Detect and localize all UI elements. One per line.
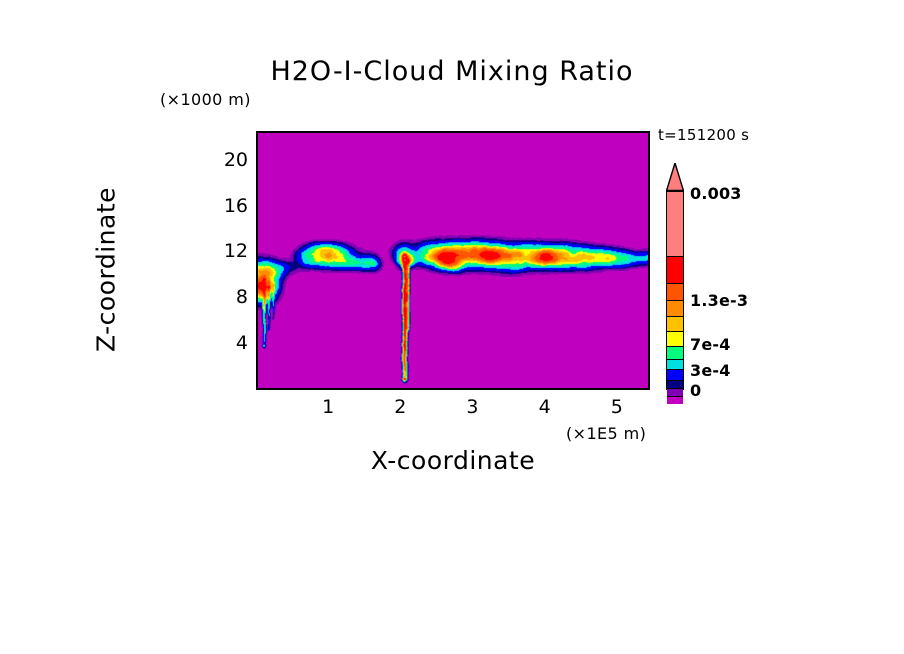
colorbar-band [667, 369, 683, 380]
colorbar-band [667, 192, 683, 256]
y-axis-tick-labels: 48121620 [198, 131, 248, 390]
y-tick-label: 16 [208, 195, 248, 217]
time-stamp-label: t=151200 s [658, 126, 749, 144]
x-tick-label: 1 [308, 396, 348, 418]
x-tick-label: 3 [452, 396, 492, 418]
y-tick-label: 12 [208, 240, 248, 262]
page-title: H2O-I-Cloud Mixing Ratio [0, 56, 904, 87]
colorbar-label: 0 [690, 381, 701, 400]
colorbar-tick-labels: 0.0031.3e-37e-43e-40 [690, 163, 840, 403]
colorbar-band [667, 380, 683, 388]
colorbar-band [667, 346, 683, 359]
y-tick-label: 4 [208, 332, 248, 354]
colorbar-band [667, 396, 683, 404]
colorbar-band [667, 331, 683, 346]
colorbar-band [667, 359, 683, 369]
colorbar-band [667, 316, 683, 331]
colorbar-label: 0.003 [690, 184, 742, 203]
contour-plot-figure: H2O-I-Cloud Mixing Ratio (×1000 m) t=151… [0, 0, 904, 654]
colorbar-band [667, 388, 683, 396]
colorbar-band [667, 256, 683, 283]
y-tick-label: 20 [208, 149, 248, 171]
colorbar-band [667, 300, 683, 316]
colorbar-arrow-icon [666, 163, 684, 191]
x-axis-title: X-coordinate [256, 446, 650, 475]
x-axis-tick-labels: 12345 [256, 396, 650, 422]
x-tick-label: 2 [380, 396, 420, 418]
colorbar-label: 1.3e-3 [690, 291, 748, 310]
colorbar-label: 3e-4 [690, 361, 731, 380]
contour-field-canvas [258, 133, 648, 388]
y-tick-label: 8 [208, 286, 248, 308]
y-axis-title: Z-coordinate [92, 120, 121, 420]
x-tick-label: 5 [597, 396, 637, 418]
y-axis-unit-label: (×1000 m) [160, 90, 251, 109]
x-tick-label: 4 [525, 396, 565, 418]
plot-area [256, 131, 650, 390]
colorbar-label: 7e-4 [690, 335, 731, 354]
colorbar [666, 191, 684, 390]
colorbar-band [667, 283, 683, 300]
x-axis-unit-label: (×1E5 m) [566, 424, 646, 443]
